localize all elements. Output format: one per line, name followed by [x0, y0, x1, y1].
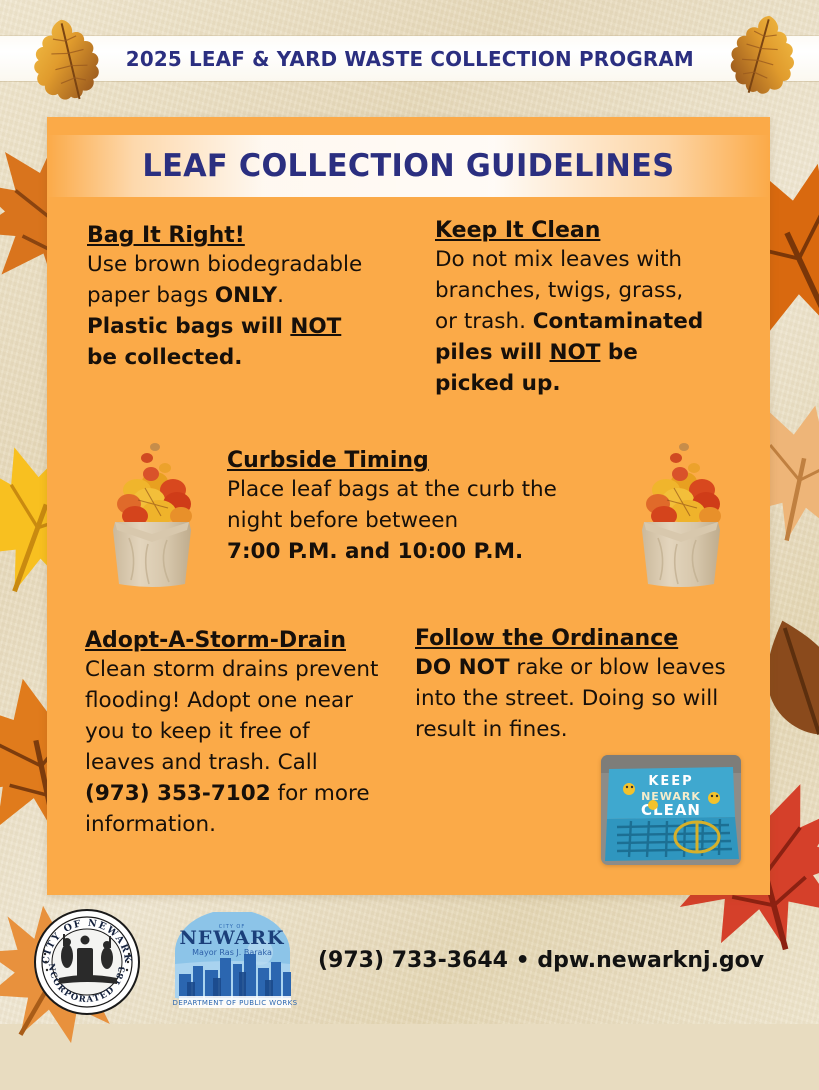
contact-info: (973) 733-3644 • dpw.newarknj.gov [318, 948, 764, 973]
bag-line-3a: Plastic bags will [87, 314, 290, 339]
drain-line-3: you to keep it free of [85, 719, 310, 744]
section-bag-it-right: Bag It Right! Use brown biodegradable pa… [87, 222, 452, 374]
clean-line-3a: or trash. [435, 309, 533, 334]
ordinance-line-2: into the street. Doing so will [415, 686, 718, 711]
bag-line-2a: paper bags [87, 283, 215, 308]
bag-line-1: Use brown biodegradable [87, 252, 362, 277]
section-body-adopt-a-storm-drain: Clean storm drains prevent flooding! Ado… [85, 655, 420, 841]
ordinance-line-1b: rake or blow leaves [510, 655, 726, 680]
svg-text:NEWARK: NEWARK [179, 927, 285, 949]
section-keep-it-clean: Keep It Clean Do not mix leaves with bra… [435, 217, 735, 400]
clean-not-emphasis: NOT [549, 340, 600, 365]
svg-text:DEPARTMENT OF PUBLIC WORKS: DEPARTMENT OF PUBLIC WORKS [173, 999, 298, 1007]
drain-phone-number: (973) 353-7102 [85, 781, 271, 806]
drain-line-1: Clean storm drains prevent [85, 657, 378, 682]
drain-line-2: flooding! Adopt one near [85, 688, 353, 713]
section-adopt-a-storm-drain: Adopt-A-Storm-Drain Clean storm drains p… [85, 627, 420, 841]
section-body-keep-it-clean: Do not mix leaves with branches, twigs, … [435, 245, 735, 400]
svg-text:Mayor Ras J. Baraka: Mayor Ras J. Baraka [192, 948, 272, 957]
drain-line-5b: for more [271, 781, 370, 806]
section-heading-bag-it-right: Bag It Right! [87, 222, 452, 250]
clean-line-4a: piles will [435, 340, 549, 365]
section-curbside-timing: Curbside Timing Place leaf bags at the c… [227, 447, 627, 568]
timing-line-2: night before between [227, 508, 458, 533]
banner-title: 2025 LEAF & YARD WASTE COLLECTION PROGRA… [125, 47, 693, 71]
section-heading-curbside-timing: Curbside Timing [227, 447, 627, 475]
ordinance-line-3: result in fines. [415, 717, 568, 742]
leaf-bag-illustration-left [93, 438, 211, 590]
ordinance-do-not-emphasis: DO NOT [415, 655, 510, 680]
section-heading-follow-the-ordinance: Follow the Ordinance [415, 625, 760, 653]
page-title: LEAF COLLECTION GUIDELINES [143, 148, 675, 184]
timing-line-1: Place leaf bags at the curb the [227, 477, 557, 502]
section-heading-keep-it-clean: Keep It Clean [435, 217, 735, 245]
svg-text:KEEP: KEEP [648, 774, 693, 789]
panel-title-band: LEAF COLLECTION GUIDELINES [47, 135, 770, 197]
section-body-follow-the-ordinance: DO NOT rake or blow leaves into the stre… [415, 653, 760, 746]
drain-line-4: leaves and trash. Call [85, 750, 318, 775]
bag-line-4: be collected. [87, 345, 242, 370]
footer: CITY OF NEWARK INCORPORATED 1836 [0, 900, 819, 1024]
bag-only-emphasis: ONLY [215, 283, 277, 308]
clean-line-4c: be [600, 340, 637, 365]
program-banner: 2025 LEAF & YARD WASTE COLLECTION PROGRA… [0, 36, 819, 81]
section-heading-adopt-a-storm-drain: Adopt-A-Storm-Drain [85, 627, 420, 655]
bag-line-2c: . [277, 283, 284, 308]
clean-contaminated-emphasis: Contaminated [533, 309, 703, 334]
drain-line-6: information. [85, 812, 216, 837]
newark-dpw-logo: CITY OF NEWARK Mayor Ras J. Baraka DEPAR… [165, 912, 300, 1012]
leaf-bag-illustration-right [622, 438, 740, 590]
clean-line-2: branches, twigs, grass, [435, 278, 683, 303]
clean-line-1: Do not mix leaves with [435, 247, 682, 272]
painted-storm-drain-photo: KEEP NEWARK CLEAN [601, 755, 741, 865]
section-follow-the-ordinance: Follow the Ordinance DO NOT rake or blow… [415, 625, 760, 746]
timing-hours: 7:00 P.M. and 10:00 P.M. [227, 539, 523, 564]
section-body-bag-it-right: Use brown biodegradable paper bags ONLY.… [87, 250, 452, 374]
bag-not-emphasis: NOT [290, 314, 341, 339]
clean-line-5: picked up. [435, 371, 561, 396]
city-of-newark-seal: CITY OF NEWARK INCORPORATED 1836 [33, 908, 141, 1016]
section-body-curbside-timing: Place leaf bags at the curb the night be… [227, 475, 627, 568]
